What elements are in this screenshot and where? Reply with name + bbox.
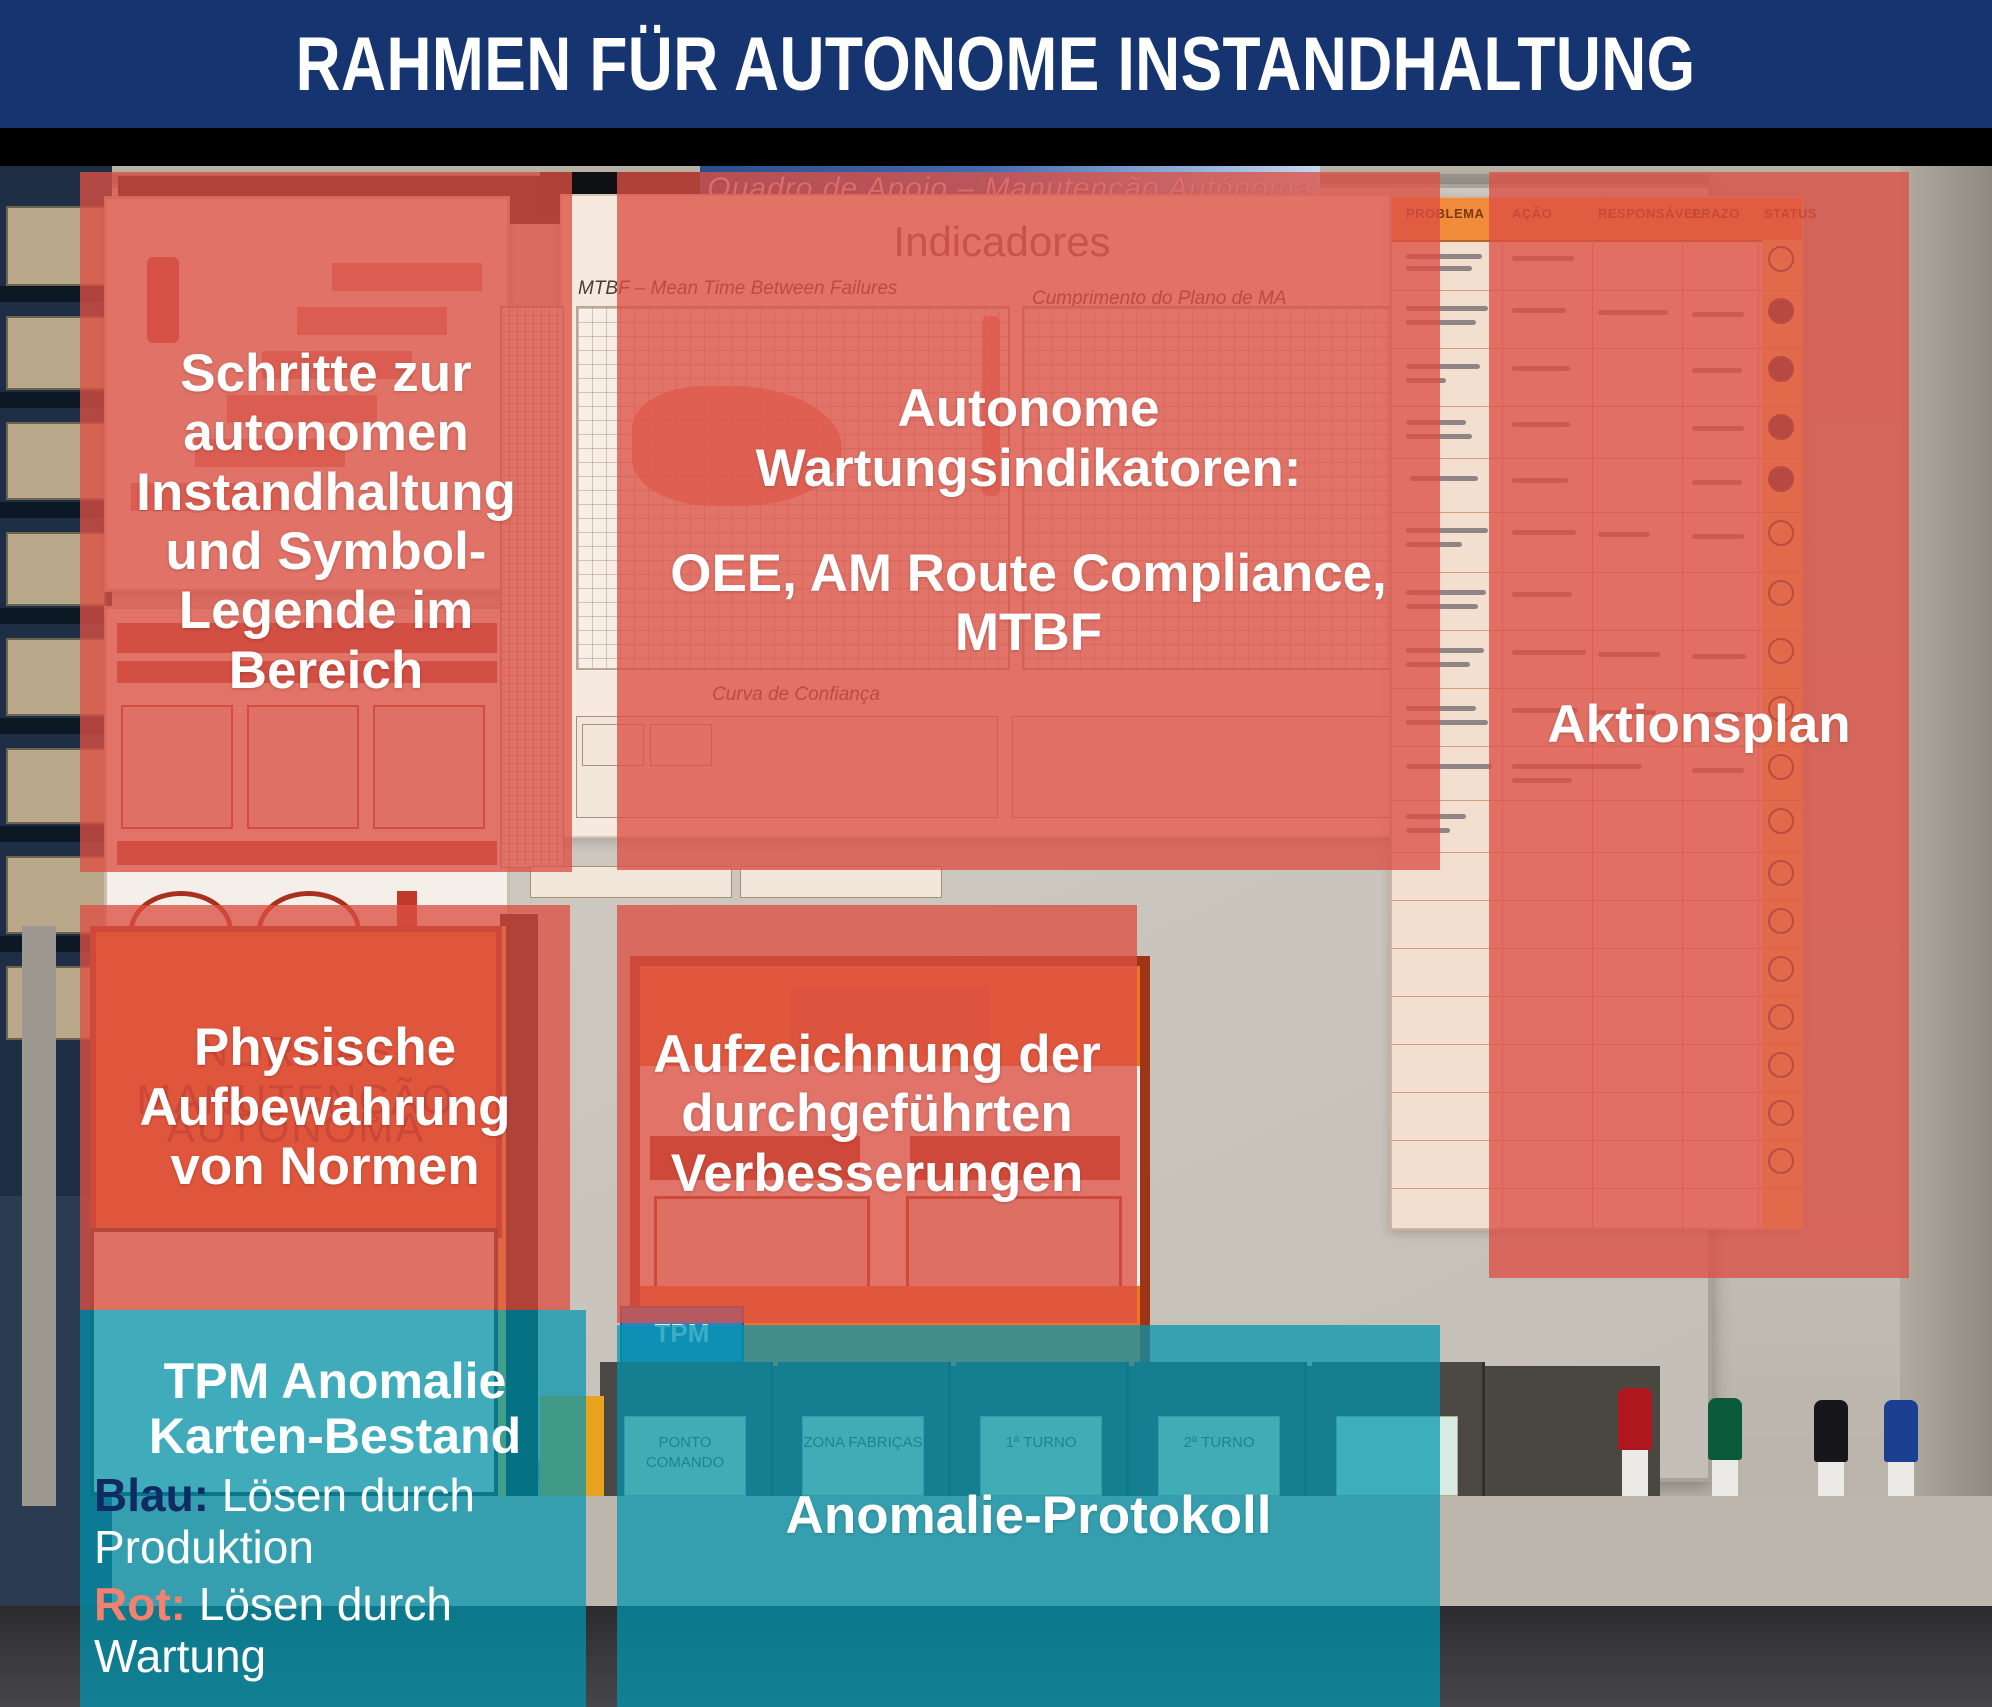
legend-key-red: Rot: [94, 1578, 186, 1630]
wall-right-edge [1900, 166, 1992, 1606]
callout-physical-storage-of-norms[interactable]: Physische Aufbewahrung von Normen [80, 905, 570, 1310]
callout-anomaly-log[interactable]: Anomalie-Protokoll [617, 1325, 1440, 1707]
callout-action-plan-label: Aktionsplan [1547, 695, 1850, 754]
marker-cap-green [1708, 1398, 1742, 1460]
marker-cap-red [1618, 1388, 1652, 1450]
marker-cap-black [1814, 1400, 1848, 1462]
page-title: RAHMEN FÜR AUTONOME INSTANDHALTUNG [296, 21, 1696, 108]
board-tab-2 [740, 866, 942, 898]
callout-tpm-anomaly-card-stock[interactable]: TPM Anomalie Karten-Bestand Blau: Lösen … [80, 1310, 586, 1707]
callout-indicators-heading: Autonome Wartungsindikatoren: [643, 379, 1414, 498]
callout-action-plan[interactable]: Aktionsplan [1489, 172, 1909, 1278]
callout-steps-label: Schritte zur autonomen Instandhaltung un… [80, 344, 572, 700]
callout-steps-and-legend[interactable]: Schritte zur autonomen Instandhaltung un… [80, 172, 572, 872]
infographic-root: RAHMEN FÜR AUTONOME INSTANDHALTUNG [0, 0, 1992, 1707]
callout-tpm-heading: TPM Anomalie Karten-Bestand [94, 1354, 576, 1464]
left-pole [22, 926, 56, 1506]
callout-norms-label: Physische Aufbewahrung von Normen [80, 1018, 570, 1196]
callout-indicators-metrics: OEE, AM Route Compliance, MTBF [643, 544, 1414, 663]
callout-improvements-label: Aufzeichnung der durchgeführten Verbesse… [617, 1025, 1137, 1203]
legend-key-blue: Blau: [94, 1469, 209, 1521]
marker-cap-blue [1884, 1400, 1918, 1462]
callout-record-of-improvements[interactable]: Aufzeichnung der durchgeführten Verbesse… [617, 905, 1137, 1323]
page-header: RAHMEN FÜR AUTONOME INSTANDHALTUNG [0, 0, 1992, 128]
header-divider [0, 128, 1992, 166]
callout-autonomous-maintenance-indicators[interactable]: Autonome Wartungsindikatoren: OEE, AM Ro… [617, 172, 1440, 870]
callout-anomaly-log-label: Anomalie-Protokoll [786, 1486, 1272, 1545]
